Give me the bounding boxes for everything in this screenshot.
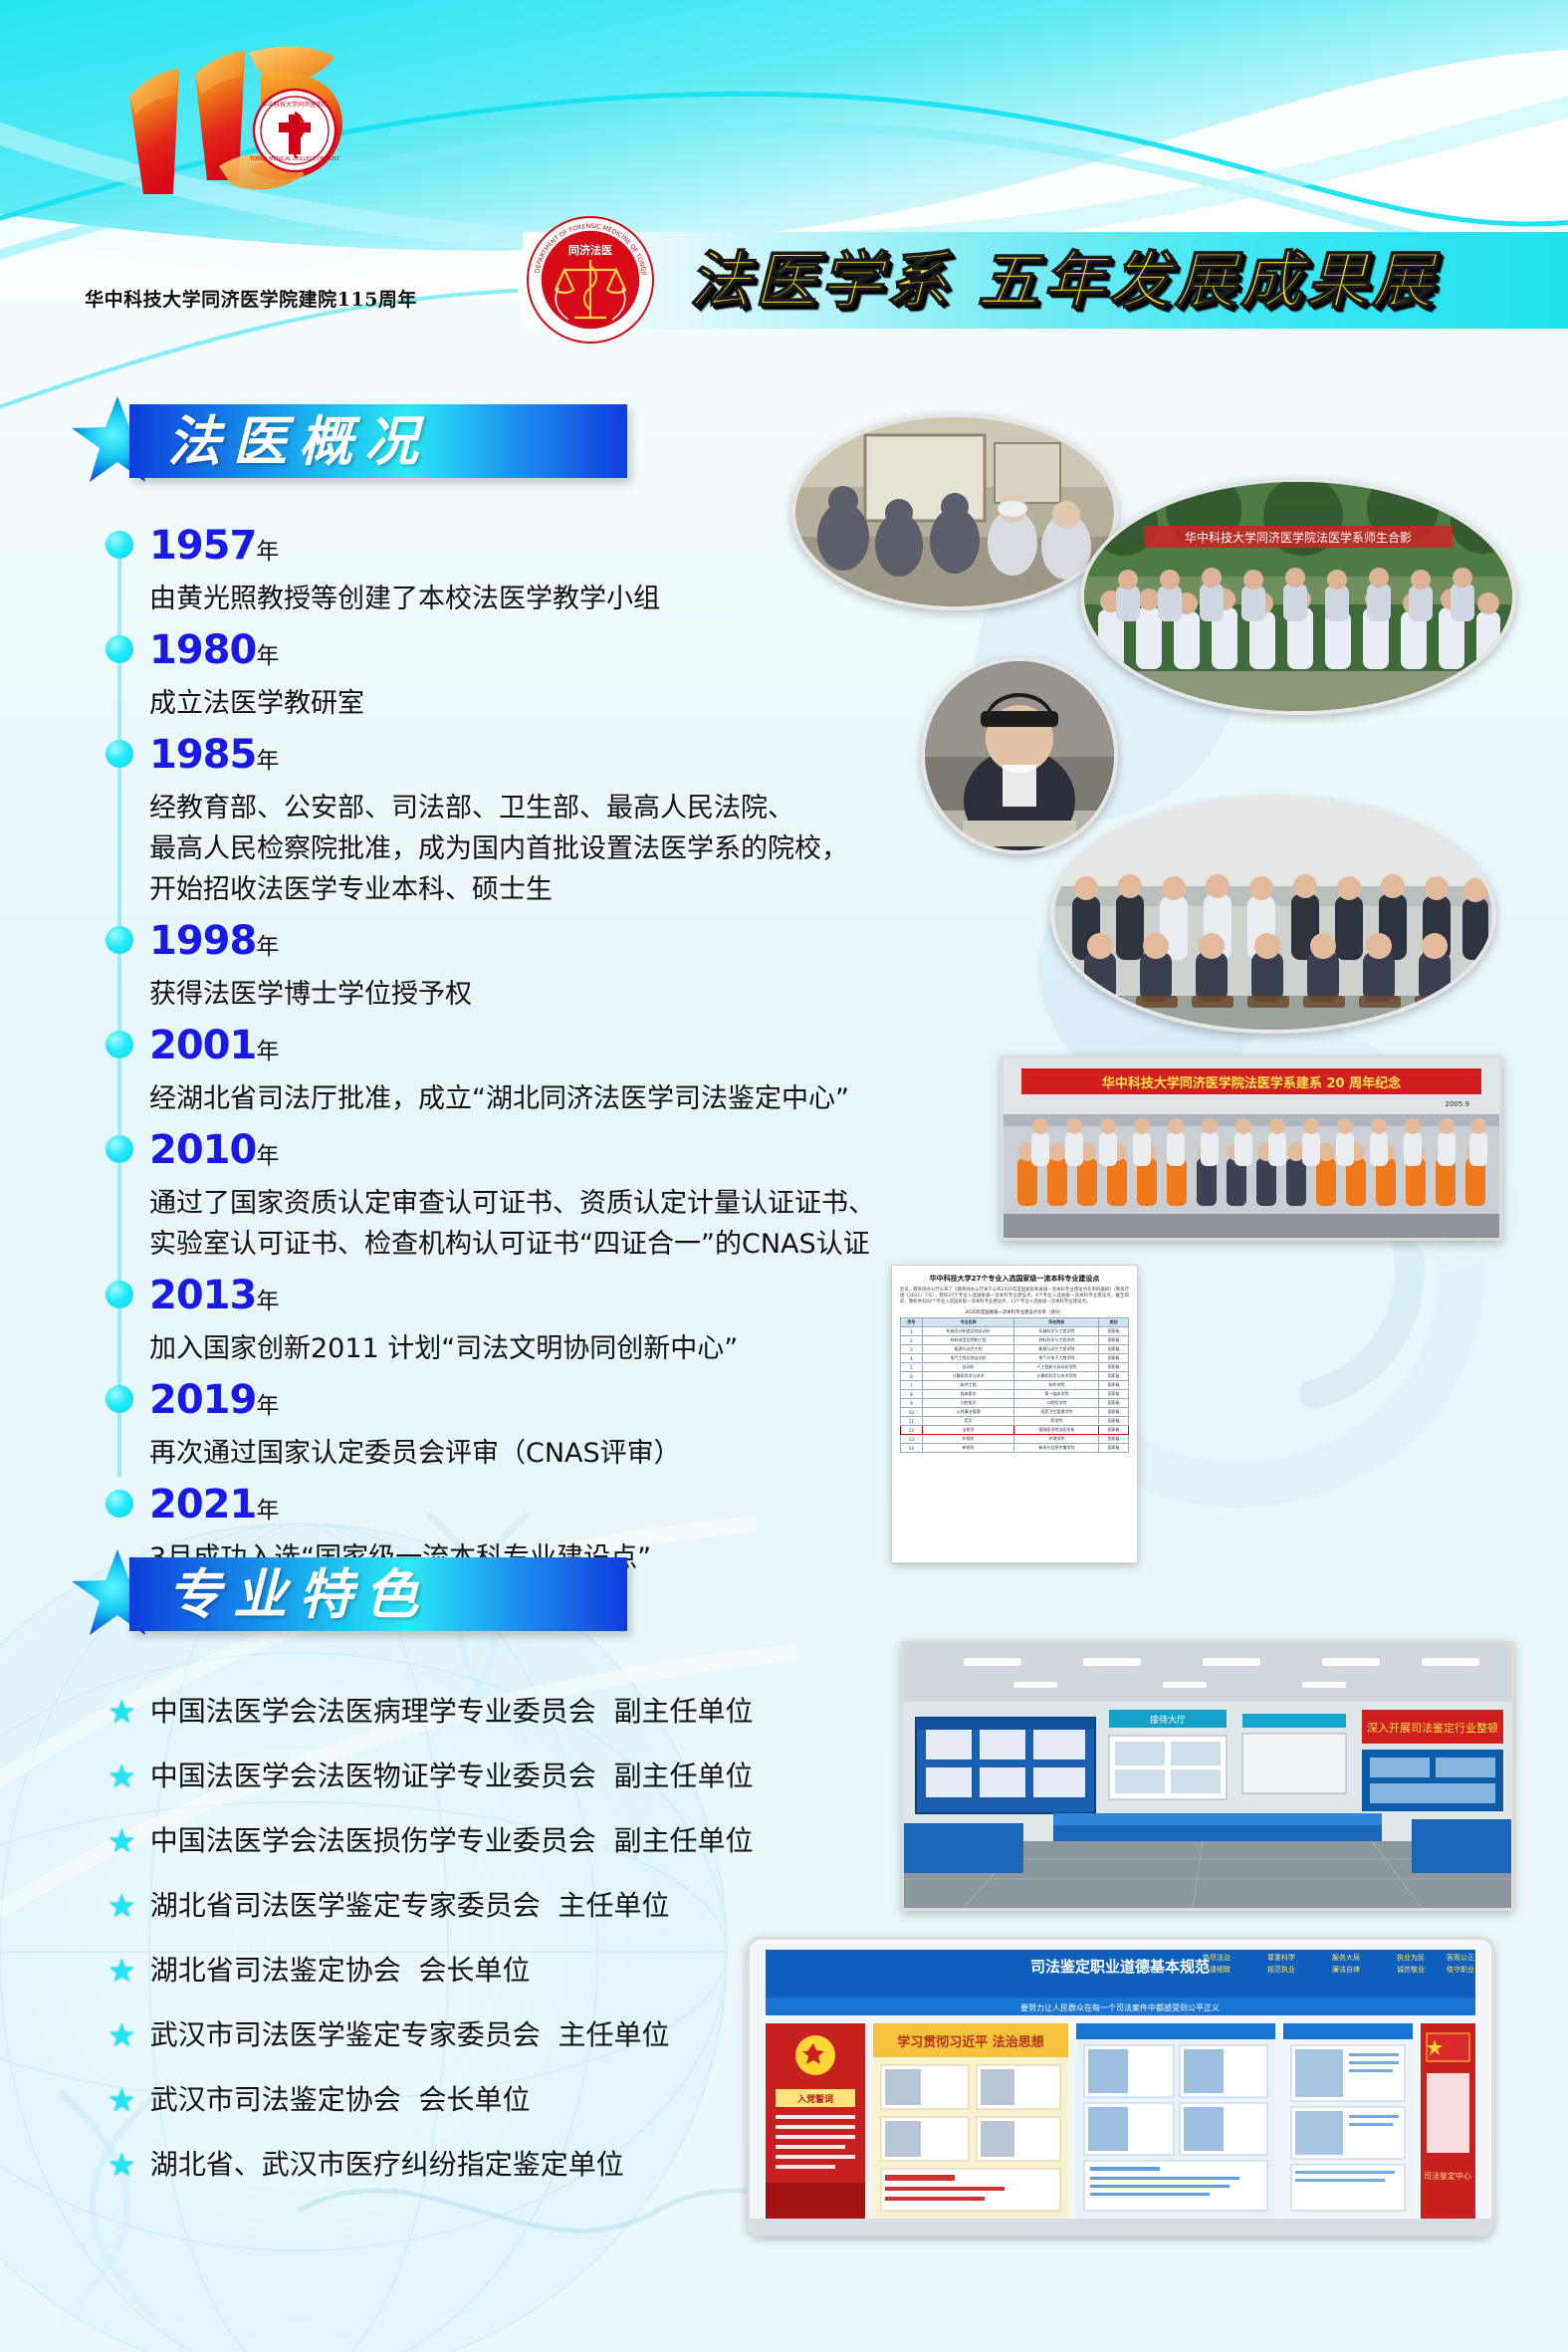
table-header-cell: 序号 <box>901 1318 923 1327</box>
table-header-row: 序号 专业名称 所在院系 类别 <box>901 1318 1129 1327</box>
photo-classroom <box>791 413 1118 610</box>
timeline-year: 1980 <box>149 627 256 673</box>
timeline-year-suffix: 年 <box>256 1289 279 1314</box>
svg-text:学习贯彻习近平 法治思想: 学习贯彻习近平 法治思想 <box>897 2034 1044 2050</box>
timeline-year-suffix: 年 <box>256 643 279 669</box>
star-icon: ★ <box>108 1758 136 1795</box>
timeline-item: 2001年 经湖北省司法厅批准，成立“湖北同济法医学司法鉴定中心” <box>117 1023 1013 1119</box>
table-row: 1 机械设计制造及其自动化 机械科学与工程学院 国家级 <box>901 1327 1129 1336</box>
timeline-dot-icon <box>106 1281 133 1308</box>
photo-exhibition-board: 司法鉴定职业道德基本规范 恪尽法治尊重科学服务大局 执业为民客观公正 严谨细致规… <box>747 1937 1494 2236</box>
table-cell: 10 <box>901 1408 923 1417</box>
photo-anniversary-20: 华中科技大学同济医学院法医学系建系 20 周年纪念 2005.9 <box>1001 1056 1502 1241</box>
table-cell: 13 <box>901 1435 923 1444</box>
table-row: 5 自动化 人工智能与自动化学院 国家级 <box>901 1363 1129 1372</box>
table-row: 13 护理学 护理学院 国家级 <box>901 1435 1129 1444</box>
table-header-cell: 所在院系 <box>1014 1318 1099 1327</box>
timeline-year-suffix: 年 <box>256 748 279 774</box>
table-cell: 机械设计制造及其自动化 <box>922 1327 1014 1336</box>
star-icon: ★ <box>108 1887 136 1925</box>
timeline-item: 2019年 再次通过国家认定委员会评审（CNAS评审） <box>117 1377 1013 1474</box>
table-cell: 国家级 <box>1099 1363 1129 1372</box>
svg-text:入党誓词: 入党誓词 <box>796 2093 833 2105</box>
list-item: ★ 中国法医学会法医病理学专业委员会 副主任单位 <box>108 1693 924 1731</box>
photo-lobby: 接待大厅 深入开展司法鉴定行业整顿 <box>901 1641 1514 1911</box>
svg-text:司法鉴定中心: 司法鉴定中心 <box>1424 2171 1471 2181</box>
feature-text: 武汉市司法鉴定协会 会长单位 <box>150 2081 531 2119</box>
timeline-desc: 加入国家创新2011 计划“司法文明协同创新中心” <box>149 1328 1013 1369</box>
table-cell: 7 <box>901 1381 923 1390</box>
timeline-desc: 再次通过国家认定委员会评审（CNAS评审） <box>149 1433 1013 1474</box>
table-cell: 国家级 <box>1099 1444 1129 1453</box>
table-cell: 国家级 <box>1099 1354 1129 1363</box>
table-cell: 3 <box>901 1345 923 1354</box>
timeline-year-suffix: 年 <box>256 539 279 565</box>
timeline-year: 1998 <box>149 918 256 964</box>
svg-text:尊重科学: 尊重科学 <box>1267 1953 1295 1962</box>
star-icon: ★ <box>108 1952 136 1990</box>
list-item: ★ 中国法医学会法医损伤学专业委员会 副主任单位 <box>108 1822 924 1860</box>
table-cell: 口腔医学院 <box>1014 1399 1099 1408</box>
table-cell: 人工智能与自动化学院 <box>1014 1363 1099 1372</box>
table-cell: 电气与电子工程学院 <box>1014 1354 1099 1363</box>
table-row: 2 材料成型及控制工程 材料科学与工程学院 国家级 <box>901 1336 1129 1345</box>
table-cell: 6 <box>901 1372 923 1381</box>
document-table: 序号 专业名称 所在院系 类别 1 机械设计制造及其自动化 机械科学与工程学院 … <box>900 1317 1129 1453</box>
table-cell: 新闻学 <box>922 1444 1014 1453</box>
photo-group-outdoor: 华中科技大学同济医学院法医学系师生合影 <box>1080 478 1516 715</box>
table-cell: 国家级 <box>1099 1327 1129 1336</box>
timeline-dot-icon <box>106 926 133 954</box>
table-cell: 护理学 <box>922 1435 1014 1444</box>
table-cell: 第一临床学院 <box>1014 1390 1099 1399</box>
timeline-dot-icon <box>106 1490 133 1518</box>
timeline-dot-icon <box>106 635 133 663</box>
feature-text: 中国法医学会法医病理学专业委员会 副主任单位 <box>150 1693 754 1731</box>
table-cell: 12 <box>901 1426 923 1435</box>
table-cell: 5 <box>901 1363 923 1372</box>
timeline-dot-icon <box>106 1135 133 1163</box>
table-cell: 电气工程及其自动化 <box>922 1354 1014 1363</box>
table-cell: 1 <box>901 1327 923 1336</box>
table-cell: 国家级 <box>1099 1345 1129 1354</box>
svg-text:华中科技大学同济医学院: 华中科技大学同济医学院 <box>262 101 328 109</box>
table-cell: 材料成型及控制工程 <box>922 1336 1014 1345</box>
table-row: 6 计算机科学与技术 计算机科学与技术学院 国家级 <box>901 1372 1129 1381</box>
timeline-year: 1985 <box>149 732 256 778</box>
table-cell: 机械科学与工程学院 <box>1014 1327 1099 1336</box>
section-label-features: 专业特色 <box>167 1561 430 1629</box>
svg-text:恪守职业: 恪守职业 <box>1447 1965 1474 1974</box>
timeline-year: 2019 <box>149 1377 256 1423</box>
photo-faculty-group <box>1050 797 1496 1034</box>
svg-text:要努力让人民群众在每一个司法案件中都感受到公平正义: 要努力让人民群众在每一个司法案件中都感受到公平正义 <box>1020 2002 1220 2012</box>
photo-banner-caption: 华中科技大学同济医学院法医学系建系 20 周年纪念 <box>1102 1075 1401 1091</box>
section-label-overview: 法医概况 <box>167 408 430 476</box>
star-icon: ★ <box>108 2146 136 2184</box>
document-body: 近日，教育部办公厅公布了《教育部办公厅关于公布2020年度国家级和省级一流本科专… <box>900 1288 1129 1305</box>
table-cell: 新闻与信息传播学院 <box>1014 1444 1099 1453</box>
photo-banner-caption: 华中科技大学同济医学院法医学系师生合影 <box>1185 530 1412 545</box>
table-row: 8 临床医学 第一临床学院 国家级 <box>901 1390 1129 1399</box>
timeline-year-suffix: 年 <box>256 934 279 960</box>
svg-text:执业为民: 执业为民 <box>1397 1953 1425 1962</box>
feature-text: 湖北省司法医学鉴定专家委员会 主任单位 <box>150 1887 670 1925</box>
table-cell: 能源与动力工程学院 <box>1014 1345 1099 1354</box>
exhibition-title: 司法鉴定职业道德基本规范 <box>1030 1958 1210 1976</box>
timeline-year: 2021 <box>149 1482 256 1528</box>
table-cell: 4 <box>901 1354 923 1363</box>
table-cell: 临床医学 <box>922 1390 1014 1399</box>
table-cell: 自动化 <box>922 1363 1014 1372</box>
table-cell: 国家级 <box>1099 1372 1129 1381</box>
timeline-year-suffix: 年 <box>256 1039 279 1064</box>
timeline-item: 2013年 加入国家创新2011 计划“司法文明协同创新中心” <box>117 1273 1013 1369</box>
star-icon: ★ <box>108 2016 136 2054</box>
table-cell: 国家级 <box>1099 1426 1129 1435</box>
svg-text:客观公正: 客观公正 <box>1447 1953 1474 1962</box>
timeline-desc: 成立法医学教研室 <box>149 683 1013 724</box>
table-header-cell: 专业名称 <box>922 1318 1014 1327</box>
table-cell: 国家级 <box>1099 1399 1129 1408</box>
anniversary-115-logo: 华中科技大学同济医学院 TONGJI MEDICAL COLLEGE OF HU… <box>100 35 398 214</box>
svg-text:2005.9: 2005.9 <box>1446 1100 1470 1108</box>
list-item: ★ 中国法医学会法医物证学专业委员会 副主任单位 <box>108 1758 924 1795</box>
document-title: 华中科技大学27个专业入选国家级一流本科专业建设点 <box>900 1274 1129 1284</box>
document-table-caption: 2020年度国家级一流本科专业建设点名单（部分） <box>900 1309 1129 1315</box>
timeline-year-suffix: 年 <box>256 1143 279 1169</box>
table-cell: 护理学院 <box>1014 1435 1099 1444</box>
star-icon: ★ <box>108 1822 136 1860</box>
table-cell: 11 <box>901 1417 923 1426</box>
table-cell: 国家级 <box>1099 1390 1129 1399</box>
anniversary-caption: 华中科技大学同济医学院建院115周年 <box>82 285 420 312</box>
svg-text:服务大局: 服务大局 <box>1332 1953 1360 1962</box>
table-cell: 软件学院 <box>1014 1381 1099 1390</box>
timeline-year: 2013 <box>149 1273 256 1318</box>
table-cell: 国家级 <box>1099 1381 1129 1390</box>
table-cell: 国家级 <box>1099 1336 1129 1345</box>
timeline-item: 2010年 通过了国家资质认定审查认可证书、资质认定计量认证证书、 实验室认可证… <box>117 1127 1013 1265</box>
table-row: 3 能源与动力工程 能源与动力工程学院 国家级 <box>901 1345 1129 1354</box>
table-row: 11 药学 药学院 国家级 <box>901 1417 1129 1426</box>
section-header-overview: 法医概况 <box>72 388 689 488</box>
table-cell: 2 <box>901 1336 923 1345</box>
department-seal-icon: DEPARTMENT OF FORENSIC MEDICINE OF TONGJ… <box>525 214 656 346</box>
table-cell: 国家级 <box>1099 1408 1129 1417</box>
table-cell: 8 <box>901 1390 923 1399</box>
table-cell: 计算机科学与技术学院 <box>1014 1372 1099 1381</box>
document-card: 华中科技大学27个专业入选国家级一流本科专业建设点 近日，教育部办公厅公布了《教… <box>891 1265 1138 1563</box>
table-row: 10 公共事业管理 医药卫生管理学院 国家级 <box>901 1408 1129 1417</box>
svg-text:恪尽法治: 恪尽法治 <box>1203 1953 1231 1962</box>
timeline-overview: 1957年 由黄光照教授等创建了本校法医学教学小组 1980年 成立法医学教研室… <box>117 523 1013 1586</box>
timeline-dot-icon <box>106 740 133 768</box>
timeline-dot-icon <box>106 1385 133 1413</box>
list-item: ★ 湖北省司法医学鉴定专家委员会 主任单位 <box>108 1887 924 1925</box>
timeline-item: 1980年 成立法医学教研室 <box>117 627 1013 724</box>
star-icon: ★ <box>108 1693 136 1731</box>
poster-root: 华中科技大学同济医学院 TONGJI MEDICAL COLLEGE OF HU… <box>0 0 1568 2352</box>
section-header-features: 专业特色 <box>72 1541 689 1641</box>
svg-text:严谨细致: 严谨细致 <box>1203 1965 1231 1974</box>
timeline-year: 2010 <box>149 1127 256 1173</box>
feature-text: 中国法医学会法医损伤学专业委员会 副主任单位 <box>150 1822 754 1860</box>
table-cell: 法医学 <box>922 1426 1014 1435</box>
svg-text:诚信敬业: 诚信敬业 <box>1397 1965 1425 1974</box>
svg-text:深入开展司法鉴定行业整顿: 深入开展司法鉴定行业整顿 <box>1367 1721 1498 1735</box>
timeline-year-suffix: 年 <box>256 1393 279 1419</box>
feature-text: 湖北省、武汉市医疗纠纷指定鉴定单位 <box>150 2146 624 2184</box>
table-cell: 材料科学与工程学院 <box>1014 1336 1099 1345</box>
timeline-dot-icon <box>106 1031 133 1058</box>
feature-text: 中国法医学会法医物证学专业委员会 副主任单位 <box>150 1758 754 1795</box>
feature-text: 湖北省司法鉴定协会 会长单位 <box>150 1952 531 1990</box>
timeline-year-suffix: 年 <box>256 1498 279 1524</box>
table-row: 9 口腔医学 口腔医学院 国家级 <box>901 1399 1129 1408</box>
table-cell: 计算机科学与技术 <box>922 1372 1014 1381</box>
table-cell: 14 <box>901 1444 923 1453</box>
table-cell: 基础医学院法医学系 <box>1014 1426 1099 1435</box>
star-icon: ★ <box>108 2081 136 2119</box>
table-cell: 9 <box>901 1399 923 1408</box>
svg-text:TONGJI MEDICAL COLLEGE OF HUST: TONGJI MEDICAL COLLEGE OF HUST <box>249 156 340 162</box>
timeline-desc: 经教育部、公安部、司法部、卫生部、最高人民法院、 最高人民检察院批准，成为国内首… <box>149 788 1013 910</box>
timeline-desc: 通过了国家资质认定审查认可证书、资质认定计量认证证书、 实验室认可证书、检查机构… <box>149 1183 1013 1265</box>
svg-text:规范执业: 规范执业 <box>1267 1965 1295 1974</box>
table-cell: 软件工程 <box>922 1381 1014 1390</box>
timeline-desc: 获得法医学博士学位授予权 <box>149 974 1013 1015</box>
timeline-dot-icon <box>106 531 133 559</box>
timeline-year: 1957 <box>149 523 256 569</box>
svg-text:廉洁自律: 廉洁自律 <box>1332 1965 1360 1974</box>
table-cell: 药学 <box>922 1417 1014 1426</box>
svg-text:同济法医: 同济法医 <box>568 243 612 257</box>
table-header-cell: 类别 <box>1099 1318 1129 1327</box>
table-cell: 公共事业管理 <box>922 1408 1014 1417</box>
table-cell: 能源与动力工程 <box>922 1345 1014 1354</box>
table-row: 7 软件工程 软件学院 国家级 <box>901 1381 1129 1390</box>
table-row: 4 电气工程及其自动化 电气与电子工程学院 国家级 <box>901 1354 1129 1363</box>
table-cell: 药学院 <box>1014 1417 1099 1426</box>
table-cell: 国家级 <box>1099 1417 1129 1426</box>
timeline-year: 2001 <box>149 1023 256 1068</box>
page-title: 法医学系 五年发展成果展 <box>689 237 1438 325</box>
timeline-item: 1998年 获得法医学博士学位授予权 <box>117 918 1013 1015</box>
table-cell: 医药卫生管理学院 <box>1014 1408 1099 1417</box>
timeline-desc: 经湖北省司法厅批准，成立“湖北同济法医学司法鉴定中心” <box>149 1078 1013 1119</box>
table-cell: 国家级 <box>1099 1435 1129 1444</box>
table-row-highlighted: 12 法医学 基础医学院法医学系 国家级 <box>901 1426 1129 1435</box>
feature-text: 武汉市司法医学鉴定专家委员会 主任单位 <box>150 2016 670 2054</box>
timeline-item: 1985年 经教育部、公安部、司法部、卫生部、最高人民法院、 最高人民检察院批准… <box>117 732 1013 910</box>
table-row: 14 新闻学 新闻与信息传播学院 国家级 <box>901 1444 1129 1453</box>
table-cell: 口腔医学 <box>922 1399 1014 1408</box>
svg-text:接待大厅: 接待大厅 <box>1150 1714 1186 1726</box>
